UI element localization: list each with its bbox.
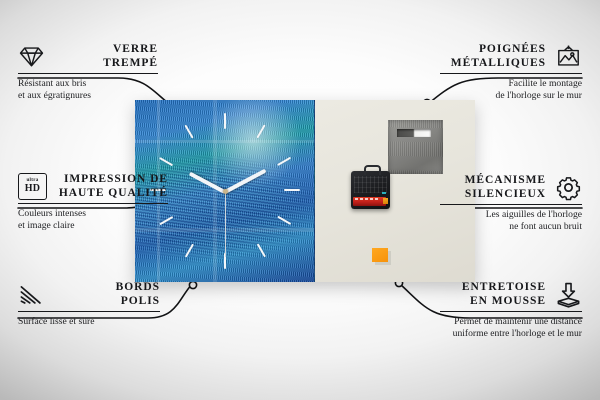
callout-description: Permet de maintenir une distance uniform… [440,316,582,341]
callout-verre-trempe: VERRE TREMPÉ Résistant aux bris et aux é… [18,42,158,103]
product-photo [135,100,475,282]
callout-header: BORDS POLIS [18,280,160,308]
ultra-hd-icon-main: HD [25,184,40,194]
battery [353,197,386,206]
callout-divider [440,204,582,205]
callout-header: POIGNÉES MÉTALLIQUES [440,42,582,70]
tick-10 [159,157,173,167]
callout-divider [18,203,168,204]
tick-5 [256,243,266,257]
tick-11 [184,124,194,138]
tick-6 [224,253,226,269]
tick-3 [284,189,300,191]
callout-title: POIGNÉES MÉTALLIQUES [440,42,546,70]
movement-indicator [382,192,386,194]
callout-divider [440,73,582,74]
quartz-movement [351,171,390,209]
callout-description: Surface lisse et sûre [18,316,160,328]
callout-header: MÉCANISME SILENCIEUX [440,173,582,201]
callout-header: VERRE TREMPÉ [18,42,158,70]
polished-edges-icon [18,281,45,308]
callout-title: ENTRETOISE EN MOUSSE [440,280,546,308]
minute-hand [224,169,266,194]
tick-7 [184,243,194,257]
gear-icon [555,174,582,201]
callout-description: Les aiguilles de l'horloge ne font aucun… [440,209,582,234]
callout-title: BORDS POLIS [54,280,160,308]
leader-dot-bords [189,281,196,288]
callout-entretoise-mousse: ENTRETOISE EN MOUSSE Permet de maintenir… [440,280,582,341]
callout-header: ENTRETOISE EN MOUSSE [440,280,582,308]
diamond-icon [18,43,45,70]
metal-hanger-plate [388,120,443,174]
callout-divider [18,311,160,312]
callout-divider [440,311,582,312]
callout-mecanisme-silencieux: MÉCANISME SILENCIEUX Les aiguilles de l'… [440,173,582,234]
callout-title: VERRE TREMPÉ [54,42,158,70]
callout-title: MÉCANISME SILENCIEUX [440,173,546,201]
callout-description: Facilite le montage de l'horloge sur le … [440,78,582,103]
foam-spacer [372,248,388,262]
movement-label [354,176,387,193]
tick-2 [277,157,291,167]
hour-hand [189,171,226,193]
ultra-hd-icon: ultra HD [18,173,47,200]
movement-hanger-tab [364,165,381,175]
tick-1 [256,124,266,138]
battery-label [355,198,380,200]
arrow-down-pad-icon [555,281,582,308]
callout-description: Résistant aux bris et aux égratignures [18,78,158,103]
infographic-canvas: VERRE TREMPÉ Résistant aux bris et aux é… [0,0,600,400]
callout-divider [18,73,158,74]
callout-poignees-metalliques: POIGNÉES MÉTALLIQUES Facilite le montage… [440,42,582,103]
tick-4 [277,216,291,226]
hanging-frame-icon [555,43,582,70]
callout-bords-polis: BORDS POLIS Surface lisse et sûre [18,280,160,328]
callout-impression-hd: ultra HD IMPRESSION DE HAUTE QUALITÉ Cou… [18,172,168,233]
hanger-slot [397,129,431,137]
callout-description: Couleurs intenses et image claire [18,208,168,233]
tick-12 [224,113,226,129]
callout-header: ultra HD IMPRESSION DE HAUTE QUALITÉ [18,172,168,200]
callout-title: IMPRESSION DE HAUTE QUALITÉ [56,172,168,200]
second-hand [225,191,226,257]
hands-center-cap [223,189,228,194]
